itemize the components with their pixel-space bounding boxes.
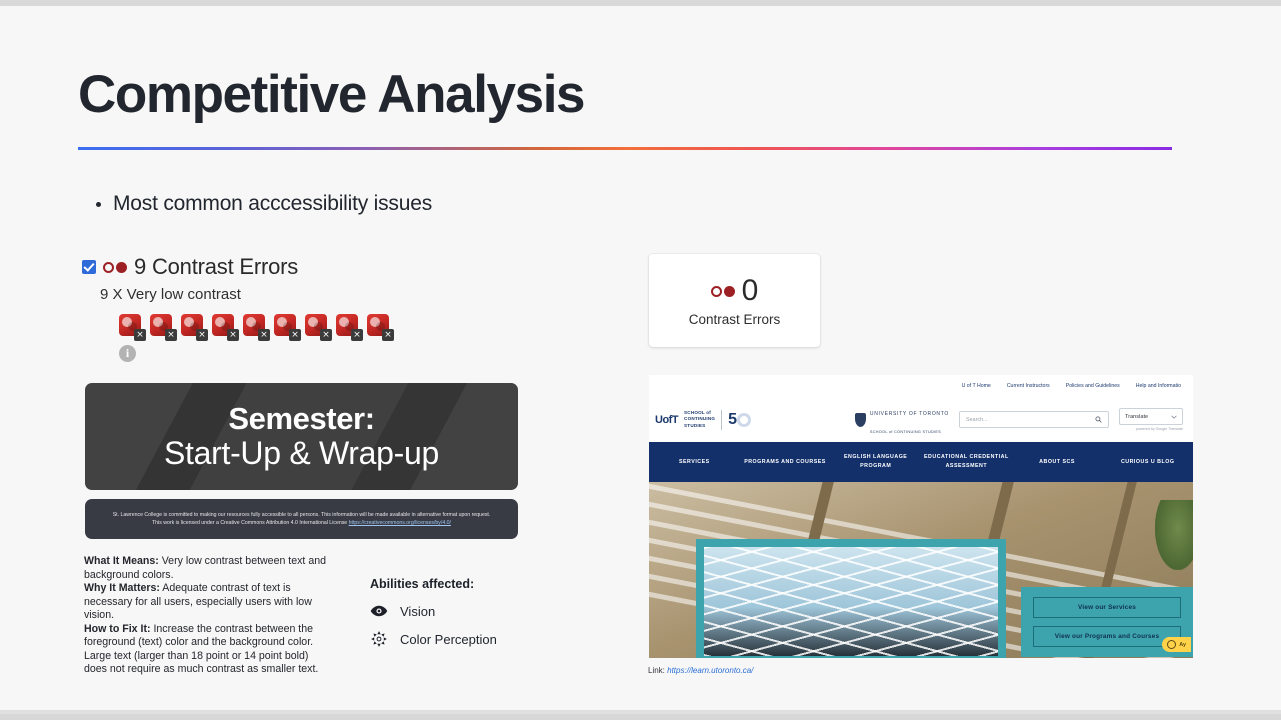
- issue-tile-close-badge[interactable]: ×: [196, 329, 208, 341]
- explanation-text: What It Means: Very low contrast between…: [84, 555, 334, 677]
- site-logo-mark: UofT: [655, 414, 678, 426]
- site-utility-link[interactable]: U of T Home: [962, 383, 991, 389]
- issue-tile[interactable]: ×: [181, 314, 203, 336]
- semester-banner: Semester: Start-Up & Wrap-up: [85, 383, 518, 490]
- issue-tile[interactable]: ×: [367, 314, 389, 336]
- explanation-label: What It Means:: [84, 555, 159, 567]
- issue-tile[interactable]: ×: [212, 314, 234, 336]
- site-header: UofT SCHOOL of CONTINUING STUDIES 5 UNIV…: [649, 397, 1193, 442]
- source-link-line: Link: https://learn.utoronto.ca/: [648, 666, 753, 675]
- issue-tile[interactable]: ×: [150, 314, 172, 336]
- contrast-error-subtitle: 9 X Very low contrast: [100, 286, 522, 303]
- bullet-dot-icon: [96, 202, 101, 207]
- issue-tile-close-badge[interactable]: ×: [165, 329, 177, 341]
- crest-line2: SCHOOL of CONTINUING STUDIES: [870, 430, 941, 434]
- translate-dropdown[interactable]: Translate: [1119, 408, 1183, 425]
- site-nav-item[interactable]: SERVICES: [649, 458, 740, 467]
- site-utility-nav: U of T HomeCurrent InstructorsPolicies a…: [649, 375, 1193, 397]
- website-screenshot: U of T HomeCurrent InstructorsPolicies a…: [649, 375, 1193, 658]
- eye-icon: [370, 602, 388, 620]
- license-line-2: This work is licensed under a Creative C…: [152, 519, 451, 527]
- crest-line1: UNIVERSITY OF TORONTO: [870, 411, 949, 417]
- search-icon: [1095, 416, 1102, 423]
- site-utility-link[interactable]: Current Instructors: [1007, 383, 1050, 389]
- crest-shield-icon: [855, 413, 866, 427]
- info-icon[interactable]: i: [119, 345, 136, 362]
- issue-tile-close-badge[interactable]: ×: [227, 329, 239, 341]
- hero-foliage: [1155, 500, 1193, 570]
- ability-row-color-perception: Color Perception: [370, 630, 570, 648]
- site-nav-item[interactable]: EDUCATIONAL CREDENTIAL ASSESSMENT: [921, 453, 1012, 471]
- site-logo-line3: STUDIES: [684, 423, 705, 428]
- hero-inset-image: [704, 547, 998, 656]
- site-main-nav: SERVICESPROGRAMS AND COURSESENGLISH LANG…: [649, 442, 1193, 482]
- hero-cta-button[interactable]: View our Services: [1033, 597, 1181, 618]
- explanation-paragraph: Why It Matters: Adequate contrast of tex…: [84, 582, 334, 623]
- issue-tile[interactable]: ×: [274, 314, 296, 336]
- ability-label-color-perception: Color Perception: [400, 632, 497, 647]
- accessibility-widget-button[interactable]: Ay: [1162, 637, 1191, 652]
- contrast-dots-icon: [103, 262, 127, 273]
- title-gradient-rule: [78, 147, 1172, 150]
- site-nav-item[interactable]: ABOUT SCS: [1012, 458, 1103, 467]
- abilities-affected-panel: Abilities affected: Vision Color Per: [370, 577, 570, 658]
- source-link-url[interactable]: https://learn.utoronto.ca/: [667, 666, 753, 675]
- hero-cta-button[interactable]: View our Programs and Courses: [1033, 626, 1181, 647]
- slide-canvas: Competitive Analysis Most common acccess…: [0, 6, 1281, 714]
- crest-text: UNIVERSITY OF TORONTO SCHOOL of CONTINUI…: [870, 402, 949, 438]
- anniversary-50-icon: 5: [728, 411, 751, 429]
- license-line-1: St. Lawrence College is committed to mak…: [113, 511, 491, 519]
- site-hero: View our ServicesView our Programs and C…: [649, 482, 1193, 658]
- issue-tile-close-badge[interactable]: ×: [289, 329, 301, 341]
- color-wheel-icon: [370, 630, 388, 648]
- issue-tile-close-badge[interactable]: ×: [382, 329, 394, 341]
- uoft-crest: UNIVERSITY OF TORONTO SCHOOL of CONTINUI…: [855, 402, 949, 438]
- bullet-label: Most common acccessibility issues: [113, 192, 432, 216]
- explanation-label: How to Fix It:: [84, 623, 151, 635]
- license-link[interactable]: https://creativecommons.org/licenses/by/…: [349, 520, 451, 526]
- issue-tile[interactable]: ×: [119, 314, 141, 336]
- issue-tile[interactable]: ×: [243, 314, 265, 336]
- site-logo-line1: SCHOOL of: [684, 410, 711, 415]
- license-banner: St. Lawrence College is committed to mak…: [85, 499, 518, 539]
- license-line-2-text: This work is licensed under a Creative C…: [152, 520, 349, 526]
- anniversary-number: 5: [728, 411, 736, 429]
- semester-banner-line1: Semester:: [228, 402, 374, 435]
- checkbox-checked-icon[interactable]: [82, 260, 96, 274]
- site-logo-text: SCHOOL of CONTINUING STUDIES: [684, 410, 715, 429]
- site-nav-item[interactable]: ENGLISH LANGUAGE PROGRAM: [830, 453, 921, 471]
- translate-powered-by: powered by Google Translate: [1136, 427, 1183, 431]
- abilities-title: Abilities affected:: [370, 577, 570, 591]
- site-search-placeholder: Search...: [966, 417, 988, 423]
- site-nav-item[interactable]: CURIOUS U BLOG: [1102, 458, 1193, 467]
- ability-label-vision: Vision: [400, 604, 435, 619]
- contrast-errors-score-card: 0 Contrast Errors: [649, 254, 820, 347]
- issue-tile[interactable]: ×: [305, 314, 327, 336]
- contrast-error-count-label: 9 Contrast Errors: [134, 254, 298, 280]
- page-title: Competitive Analysis: [78, 64, 584, 125]
- contrast-dots-icon: [711, 286, 735, 297]
- source-link-prefix: Link:: [648, 666, 667, 675]
- issue-tile-close-badge[interactable]: ×: [258, 329, 270, 341]
- issue-tile-list: ×××××××××i: [119, 314, 389, 362]
- issue-tile-close-badge[interactable]: ×: [320, 329, 332, 341]
- accessibility-person-icon: [1167, 640, 1176, 649]
- score-card-label: Contrast Errors: [689, 312, 781, 327]
- ability-row-vision: Vision: [370, 602, 570, 620]
- issue-tile[interactable]: ×: [336, 314, 358, 336]
- issue-tile-close-badge[interactable]: ×: [134, 329, 146, 341]
- contrast-report-panel: 9 Contrast Errors 9 X Very low contrast …: [82, 254, 522, 362]
- logo-divider: [721, 410, 722, 430]
- issue-tile-close-badge[interactable]: ×: [351, 329, 363, 341]
- site-logo[interactable]: UofT SCHOOL of CONTINUING STUDIES 5: [655, 410, 751, 430]
- semester-banner-line2: Start-Up & Wrap-up: [164, 436, 439, 471]
- site-nav-item[interactable]: PROGRAMS AND COURSES: [740, 458, 831, 467]
- translate-control: Translate powered by Google Translate: [1119, 408, 1183, 431]
- contrast-error-header: 9 Contrast Errors: [82, 254, 522, 280]
- bullet-item: Most common acccessibility issues: [96, 192, 432, 216]
- score-card-value: 0: [742, 274, 759, 308]
- chevron-down-icon: [1171, 415, 1177, 419]
- score-card-value-row: 0: [711, 274, 759, 308]
- hero-inset-image-frame: [696, 539, 1006, 658]
- translate-label: Translate: [1125, 414, 1148, 420]
- explanation-label: Why It Matters:: [84, 582, 160, 594]
- explanation-paragraph: How to Fix It: Increase the contrast bet…: [84, 623, 334, 677]
- explanation-paragraph: What It Means: Very low contrast between…: [84, 555, 334, 582]
- accessibility-widget-label: Ay: [1179, 642, 1186, 648]
- site-logo-line2: CONTINUING: [684, 416, 715, 421]
- site-utility-link[interactable]: Policies and Guidelines: [1066, 383, 1120, 389]
- site-search-input[interactable]: Search...: [959, 411, 1109, 428]
- site-utility-link[interactable]: Help and Informatio: [1136, 383, 1181, 389]
